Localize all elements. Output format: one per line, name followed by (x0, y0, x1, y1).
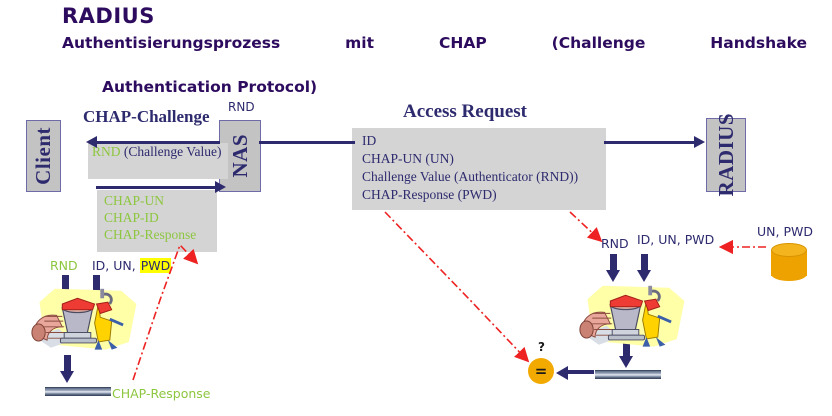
arrow-line-nas-to-panel (259, 141, 355, 144)
chap-line: CHAP-ID (104, 209, 222, 226)
down-arrow-client-output (60, 355, 75, 383)
arrow-head-to-radius (694, 136, 705, 148)
dashed-arrow-request-to-compare (385, 212, 527, 360)
access-line: CHAP-UN (UN) (362, 150, 608, 168)
arrow-head-to-compare (556, 366, 568, 380)
subtitle-line-1: Authentisierungsprozess mit CHAP (Challe… (62, 32, 807, 76)
panel-chap-response-text: CHAP-UN CHAP-ID CHAP-Response (104, 192, 222, 243)
challenge-rest-text: (Challenge Value) (121, 144, 222, 159)
subtitle-line-2: Authentication Protocol) (62, 76, 807, 98)
arrow-line-panel-to-radius (604, 141, 698, 144)
access-line: Challenge Value (Authenticator (RND)) (362, 168, 608, 186)
panel-challenge-text: RND (Challenge Value) (92, 144, 228, 161)
label-server-input-rnd: RND (601, 236, 629, 251)
arrow-line-to-compare (566, 370, 594, 374)
arrow-head-nas-to-client (86, 136, 97, 148)
caption-chap-challenge: CHAP-Challenge (83, 107, 210, 127)
node-radius-label: RADIUS (714, 113, 739, 197)
access-line: ID (362, 132, 608, 150)
compare-question-mark: ? (538, 340, 545, 354)
node-client[interactable]: Client (26, 120, 61, 192)
hash-function-grinder-server (580, 286, 685, 347)
node-radius[interactable]: RADIUS (706, 118, 746, 192)
hash-bar-client-response (45, 387, 111, 396)
label-client-id: ID, (92, 258, 109, 273)
caption-access-request: Access Request (403, 101, 527, 123)
dashed-arrow-request-to-server-rnd (570, 212, 600, 240)
arrow-line-client-to-nas (96, 186, 220, 189)
label-client-input-credentials: ID, UN, PWD (92, 258, 171, 273)
down-arrow-server-rnd (606, 254, 621, 282)
hash-function-grinder-client (32, 289, 137, 350)
page-subtitle: Authentisierungsprozess mit CHAP (Challe… (62, 32, 807, 98)
access-line: CHAP-Response (PWD) (362, 186, 608, 204)
chap-line: CHAP-Response (104, 226, 222, 243)
label-client-pwd-highlighted: PWD (140, 258, 172, 273)
arrow-line-nas-to-client (96, 141, 220, 144)
label-database-credentials: UN, PWD (757, 224, 813, 239)
label-server-input-credentials: ID, UN, PWD (637, 232, 714, 247)
page-title: RADIUS (62, 4, 155, 28)
label-rnd-over-nas: RND (228, 100, 255, 114)
down-arrow-client-rnd (58, 275, 73, 303)
label-client-chap-response-output: CHAP-Response (112, 386, 211, 401)
chap-line: CHAP-UN (104, 192, 222, 209)
database-cylinder-icon (771, 243, 807, 281)
label-client-input-rnd: RND (50, 258, 78, 273)
down-arrow-server-output (619, 340, 634, 368)
node-nas-label: NAS (228, 134, 253, 178)
down-arrow-server-credentials (637, 254, 652, 282)
label-client-un: UN, (113, 258, 135, 273)
compare-equals-badge: = (528, 358, 554, 384)
node-client-label: Client (31, 127, 56, 185)
arrow-head-client-to-nas (215, 181, 226, 193)
down-arrow-client-credentials (89, 275, 104, 303)
panel-access-request-text: ID CHAP-UN (UN) Challenge Value (Authent… (362, 132, 608, 204)
hash-bar-server-response (595, 370, 661, 379)
